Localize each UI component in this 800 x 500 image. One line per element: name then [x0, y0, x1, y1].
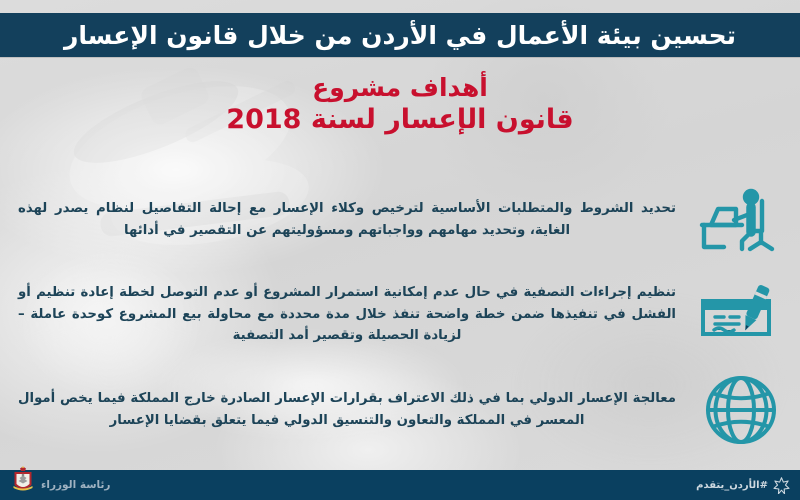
globe-icon [682, 362, 800, 457]
footer-ministry-text: رئاسة الوزراء [41, 479, 110, 491]
objective-text: معالجة الإعسار الدولي بما في ذلك الاعترا… [0, 388, 682, 431]
header-band: تحسين بيئة الأعمال في الأردن من خلال قان… [0, 13, 800, 57]
footer-band: #الأردن_يتقدم رئاسة الوزراء [0, 470, 800, 500]
footer-hashtag-group: #الأردن_يتقدم [696, 477, 790, 494]
jordan-coat-of-arms-icon [10, 466, 36, 496]
subtitle-line-1: أهداف مشروع [0, 72, 800, 104]
objective-row: تنظيم إجراءات التصفية في حال عدم إمكانية… [0, 267, 800, 362]
seven-pointed-star-icon [773, 477, 790, 494]
objective-row: تحديد الشروط والمتطلبات الأساسية لترخيص … [0, 172, 800, 267]
objective-text: تحديد الشروط والمتطلبات الأساسية لترخيص … [0, 198, 682, 241]
objective-row: معالجة الإعسار الدولي بما في ذلك الاعترا… [0, 362, 800, 457]
person-at-desk-icon [682, 172, 800, 267]
infographic-poster: تحسين بيئة الأعمال في الأردن من خلال قان… [0, 0, 800, 500]
subtitle-block: أهداف مشروع قانون الإعسار لسنة 2018 [0, 72, 800, 136]
footer-ministry-group: رئاسة الوزراء [10, 475, 110, 496]
page-title: تحسين بيئة الأعمال في الأردن من خلال قان… [64, 23, 736, 48]
subtitle-line-2: قانون الإعسار لسنة 2018 [0, 104, 800, 136]
objective-text: تنظيم إجراءات التصفية في حال عدم إمكانية… [0, 282, 682, 347]
footer-hashtag-text: #الأردن_يتقدم [696, 480, 768, 491]
objectives-list: تحديد الشروط والمتطلبات الأساسية لترخيص … [0, 172, 800, 457]
cheque-with-pen-icon [682, 267, 800, 362]
